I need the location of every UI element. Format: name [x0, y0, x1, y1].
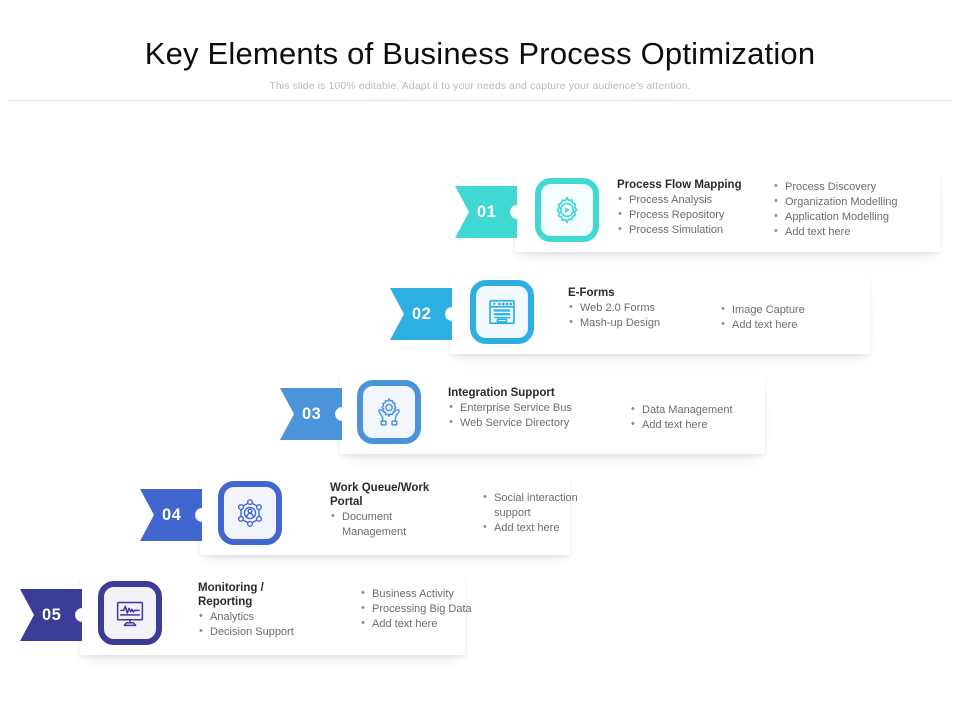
- row-left-bullets: Analytics Decision Support: [198, 610, 338, 640]
- list-item: Decision Support: [198, 625, 338, 640]
- row-text-3: Integration Support Enterprise Service B…: [448, 386, 628, 431]
- browser-form-icon: [484, 294, 520, 330]
- process-row-2[interactable]: 02 E-Forms: [390, 272, 960, 358]
- banner-connector-dot: [336, 408, 348, 420]
- row-left-bullets: Web 2.0 Forms Mash-up Design: [568, 301, 718, 331]
- process-row-5[interactable]: 05 Monitoring / Reporting Analytics Deci…: [20, 573, 960, 659]
- row-right-bullets-2: Image Capture Add text here: [720, 303, 900, 333]
- row-right-bullets-3: Data Management Add text here: [630, 403, 820, 433]
- list-item: Add text here: [482, 521, 602, 536]
- list-item: Data Management: [630, 403, 820, 418]
- gear-play-icon: [549, 192, 585, 228]
- list-item: Mash-up Design: [568, 316, 718, 331]
- icon-tile-4[interactable]: [218, 481, 282, 545]
- icon-tile-5[interactable]: [98, 581, 162, 645]
- list-item: Organization Modelling: [773, 195, 960, 210]
- page-title: Key Elements of Business Process Optimiz…: [0, 36, 960, 72]
- step-number: 04: [162, 507, 181, 524]
- list-item: Enterprise Service Bus: [448, 401, 626, 416]
- row-text-1: Process Flow Mapping Process Analysis Pr…: [617, 178, 777, 238]
- list-item: Add text here: [773, 225, 960, 240]
- slide-subtitle: This slide is 100% editable. Adapt it to…: [0, 80, 960, 92]
- row-heading: Work Queue/Work Portal: [330, 481, 460, 509]
- row-right-bullets-5: Business Activity Processing Big Data Ad…: [360, 587, 530, 632]
- step-banner-04[interactable]: 04: [140, 489, 202, 541]
- list-item: Document Management: [330, 510, 450, 540]
- row-heading: E-Forms: [568, 286, 728, 300]
- process-row-3[interactable]: 03 Integration Support Enterprise Servic…: [280, 372, 960, 458]
- row-right-bullets-4: Social interaction support Add text here: [482, 491, 602, 536]
- list-item: Web Service Directory: [448, 416, 626, 431]
- banner-connector-dot: [76, 609, 88, 621]
- icon-tile-2[interactable]: [470, 280, 534, 344]
- row-text-4: Work Queue/Work Portal Document Manageme…: [330, 481, 460, 540]
- banner-connector-dot: [196, 509, 208, 521]
- list-item: Process Analysis: [617, 193, 773, 208]
- banner-connector-dot: [446, 308, 458, 320]
- row-left-bullets: Document Management: [330, 510, 450, 540]
- row-heading: Process Flow Mapping: [617, 178, 777, 192]
- step-banner-03[interactable]: 03: [280, 388, 342, 440]
- list-item: Application Modelling: [773, 210, 960, 225]
- row-text-5: Monitoring / Reporting Analytics Decisio…: [198, 581, 338, 640]
- header-divider: [8, 100, 952, 101]
- process-row-1[interactable]: 01 Process Flow Mapping Process Analysis…: [455, 170, 960, 256]
- row-left-bullets: Process Analysis Process Repository Proc…: [617, 193, 773, 238]
- step-number: 02: [412, 306, 431, 323]
- process-row-4[interactable]: 04 Work Queue/Work Portal: [140, 473, 960, 559]
- banner-connector-dot: [511, 206, 523, 218]
- monitor-pulse-icon: [112, 595, 148, 631]
- list-item: Business Activity: [360, 587, 530, 602]
- row-left-bullets: Enterprise Service Bus Web Service Direc…: [448, 401, 626, 431]
- icon-tile-1[interactable]: [535, 178, 599, 242]
- list-item: Add text here: [630, 418, 820, 433]
- slide-footer-space: [0, 668, 960, 720]
- step-banner-02[interactable]: 02: [390, 288, 452, 340]
- list-item: Processing Big Data: [360, 602, 530, 617]
- list-item: Social interaction support: [482, 491, 602, 521]
- step-banner-01[interactable]: 01: [455, 186, 517, 238]
- hands-gear-icon: [371, 394, 407, 430]
- list-item: Add text here: [720, 318, 900, 333]
- row-text-2: E-Forms Web 2.0 Forms Mash-up Design: [568, 286, 728, 331]
- row-right-bullets-1: Process Discovery Organization Modelling…: [773, 180, 960, 240]
- list-item: Process Repository: [617, 208, 773, 223]
- list-item: Add text here: [360, 617, 530, 632]
- list-item: Analytics: [198, 610, 338, 625]
- list-item: Image Capture: [720, 303, 900, 318]
- list-item: Process Discovery: [773, 180, 960, 195]
- row-heading: Monitoring / Reporting: [198, 581, 328, 609]
- step-number: 03: [302, 406, 321, 423]
- user-network-icon: [232, 495, 268, 531]
- step-number: 05: [42, 607, 61, 624]
- slide-root: Key Elements of Business Process Optimiz…: [0, 0, 960, 720]
- list-item: Web 2.0 Forms: [568, 301, 718, 316]
- row-heading: Integration Support: [448, 386, 628, 400]
- list-item: Process Simulation: [617, 223, 773, 238]
- slide-header: Key Elements of Business Process Optimiz…: [0, 0, 960, 104]
- icon-tile-3[interactable]: [357, 380, 421, 444]
- step-number: 01: [477, 204, 496, 221]
- step-banner-05[interactable]: 05: [20, 589, 82, 641]
